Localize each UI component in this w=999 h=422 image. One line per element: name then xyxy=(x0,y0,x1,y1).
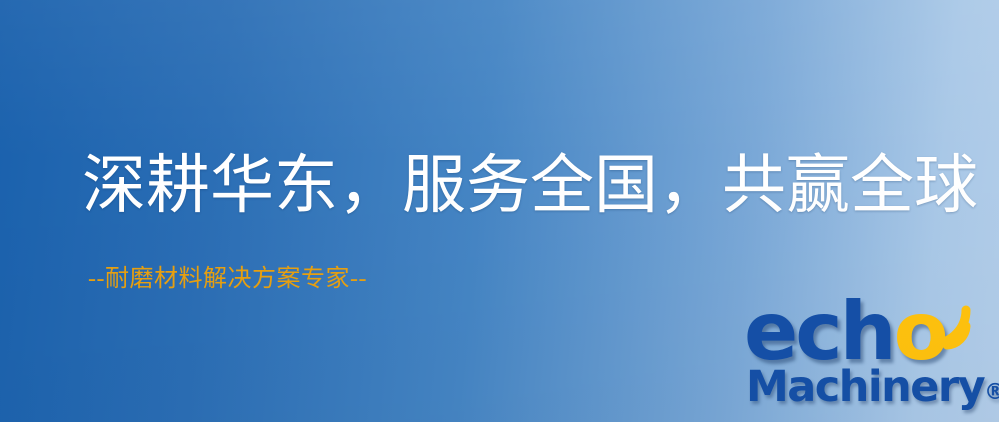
logo-echo-text: echo xyxy=(744,292,946,372)
promo-banner: 深耕华东，服务全国，共赢全球 --耐磨材料解决方案专家-- echo Machi… xyxy=(0,0,999,422)
company-logo: echo Machinery® xyxy=(742,296,994,420)
banner-subtitle: --耐磨材料解决方案专家-- xyxy=(88,266,367,292)
logo-machinery-text: Machinery xyxy=(746,362,984,412)
banner-headline: 深耕华东，服务全国，共赢全球 xyxy=(82,152,978,220)
signal-waves-icon xyxy=(918,294,988,356)
registered-trademark-icon: ® xyxy=(984,380,999,405)
logo-company-name: Machinery® xyxy=(746,364,999,416)
